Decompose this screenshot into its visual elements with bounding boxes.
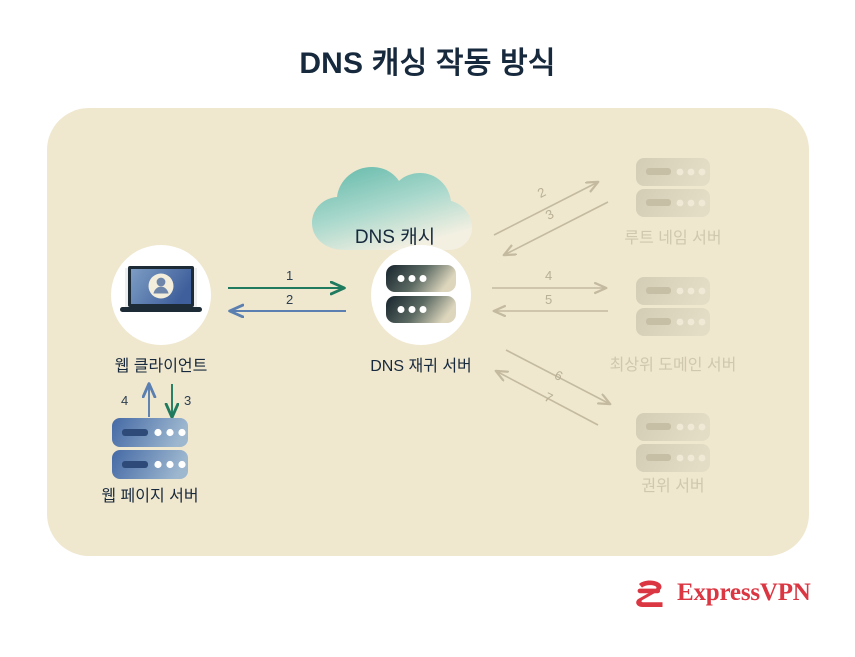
step-number-1: 1 (286, 268, 293, 283)
step-number-3-client: 3 (184, 393, 191, 408)
dns-cache-label: DNS 캐시 (330, 222, 460, 249)
step-number-4-tld: 4 (545, 268, 552, 283)
expressvpn-logo: ExpressVPN (634, 578, 811, 608)
step-number-2: 2 (286, 292, 293, 307)
step-number-4-client: 4 (121, 393, 128, 408)
tld-server-label: 최상위 도메인 서버 (583, 351, 763, 375)
expressvpn-wordmark: ExpressVPN (677, 579, 811, 607)
root-name-server-label: 루트 네임 서버 (593, 224, 753, 248)
authoritative-server-label: 권위 서버 (593, 472, 753, 496)
web-client-label: 웹 클라이언트 (81, 352, 241, 376)
step-number-5-tld: 5 (545, 292, 552, 307)
expressvpn-e-icon (634, 578, 668, 608)
page-title: DNS 캐싱 작동 방식 (0, 38, 855, 82)
dns-recursive-server-label: DNS 재귀 서버 (341, 352, 501, 376)
diagram-canvas: DNS 캐싱 작동 방식 (0, 0, 855, 657)
web-page-server-label: 웹 페이지 서버 (70, 482, 230, 506)
